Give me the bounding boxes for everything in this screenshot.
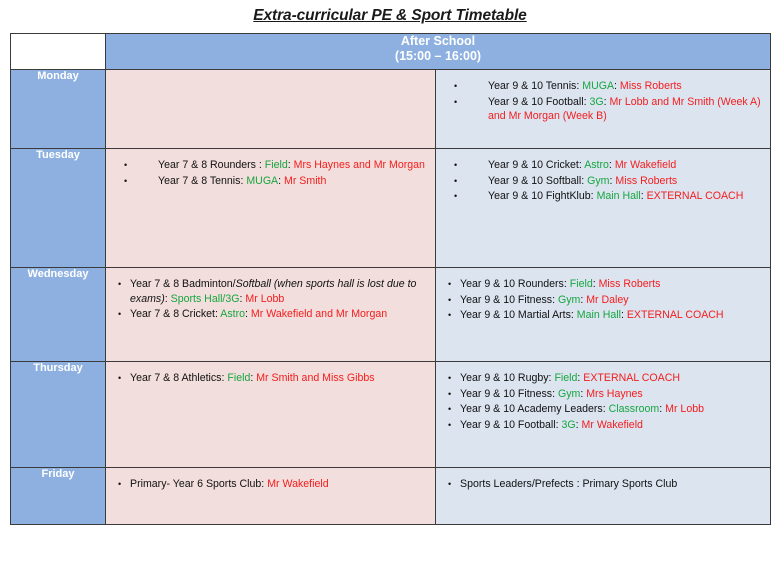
activity-text-run: Year 9 & 10 FightKlub: — [488, 190, 597, 202]
activity-text-run: Year 9 & 10 Fitness: — [460, 388, 558, 400]
activity-text-run: 3G — [562, 419, 576, 431]
cell-monday-upper-school-list: Year 9 & 10 Tennis: MUGA: Miss RobertsYe… — [436, 70, 770, 134]
cell-monday-lower-school — [106, 70, 436, 149]
cell-wednesday-lower-school: Year 7 & 8 Badminton/Softball (when spor… — [106, 268, 436, 362]
cell-tuesday-upper-school: Year 9 & 10 Cricket: Astro: Mr Wakefield… — [436, 149, 771, 268]
activity-text-run: Field — [554, 372, 577, 384]
cell-friday-lower-school-list: Primary- Year 6 Sports Club: Mr Wakefiel… — [106, 468, 435, 502]
activity-text-run: Classroom — [609, 403, 660, 415]
timetable-page: Extra-curricular PE & Sport Timetable Af… — [0, 0, 780, 585]
activity-text-run: Mr Daley — [586, 294, 628, 306]
cell-thursday-lower-school-list: Year 7 & 8 Athletics: Field: Mr Smith an… — [106, 362, 435, 396]
list-item: Sports Leaders/Prefects : Primary Sports… — [446, 477, 762, 492]
list-item: Year 7 & 8 Cricket: Astro: Mr Wakefield … — [116, 307, 427, 322]
session-header: After School (15:00 – 16:00) — [106, 34, 771, 70]
activity-text-run: Primary- Year 6 Sports Club: — [130, 478, 267, 490]
list-item: Year 9 & 10 Fitness: Gym: Mr Daley — [446, 293, 762, 308]
page-title: Extra-curricular PE & Sport Timetable — [0, 0, 780, 33]
activity-text-run: Year 7 & 8 Tennis: — [158, 175, 246, 187]
activity-text-run: Mr Lobb — [665, 403, 704, 415]
activity-text-run: Year 9 & 10 Fitness: — [460, 294, 558, 306]
cell-monday-upper-school: Year 9 & 10 Tennis: MUGA: Miss RobertsYe… — [436, 70, 771, 149]
cell-wednesday-lower-school-list: Year 7 & 8 Badminton/Softball (when spor… — [106, 268, 435, 332]
day-label-thursday: Thursday — [11, 362, 106, 468]
cell-tuesday-upper-school-list: Year 9 & 10 Cricket: Astro: Mr Wakefield… — [436, 149, 770, 214]
activity-text-run: Astro — [220, 308, 245, 320]
list-item: Year 9 & 10 FightKlub: Main Hall: EXTERN… — [450, 189, 762, 204]
activity-text-run: Sports Hall/3G — [171, 293, 240, 305]
cell-friday-upper-school: Sports Leaders/Prefects : Primary Sports… — [436, 468, 771, 525]
table-row: ThursdayYear 7 & 8 Athletics: Field: Mr … — [11, 362, 771, 468]
cell-wednesday-upper-school-list: Year 9 & 10 Rounders: Field: Miss Robert… — [436, 268, 770, 333]
activity-text-run: Year 9 & 10 Cricket: — [488, 159, 584, 171]
activity-text-run: Main Hall — [577, 309, 621, 321]
list-item: Year 7 & 8 Athletics: Field: Mr Smith an… — [116, 371, 427, 386]
list-item: Year 9 & 10 Rounders: Field: Miss Robert… — [446, 277, 762, 292]
activity-text-run: Mr Wakefield — [582, 419, 643, 431]
table-row: WednesdayYear 7 & 8 Badminton/Softball (… — [11, 268, 771, 362]
cell-thursday-upper-school-list: Year 9 & 10 Rugby: Field: EXTERNAL COACH… — [436, 362, 770, 442]
activity-text-run: Mr Wakefield — [615, 159, 676, 171]
list-item: Year 7 & 8 Tennis: MUGA: Mr Smith — [120, 174, 427, 189]
activity-text-run: Year 9 & 10 Martial Arts: — [460, 309, 577, 321]
activity-text-run: EXTERNAL COACH — [647, 190, 744, 202]
activity-text-run: Gym — [558, 294, 580, 306]
cell-tuesday-lower-school-list: Year 7 & 8 Rounders : Field: Mrs Haynes … — [106, 149, 435, 198]
activity-text-run: MUGA — [582, 80, 614, 92]
activity-text-run: Main Hall — [597, 190, 641, 202]
activity-text-run: Miss Roberts — [615, 175, 677, 187]
activity-text-run: Field — [227, 372, 250, 384]
list-item: Year 9 & 10 Tennis: MUGA: Miss Roberts — [450, 79, 762, 94]
activity-text-run: Mr Lobb — [245, 293, 284, 305]
activity-text-run: Field — [570, 278, 593, 290]
activity-text-run: Year 9 & 10 Academy Leaders: — [460, 403, 609, 415]
table-header-row: After School (15:00 – 16:00) — [11, 34, 771, 70]
activity-text-run: Gym — [587, 175, 609, 187]
activity-text-run: EXTERNAL COACH — [583, 372, 680, 384]
corner-cell — [11, 34, 106, 70]
activity-text-run: Year 9 & 10 Softball: — [488, 175, 587, 187]
list-item: Year 7 & 8 Badminton/Softball (when spor… — [116, 277, 427, 306]
day-label-friday: Friday — [11, 468, 106, 525]
activity-text-run: Year 9 & 10 Football: — [460, 419, 562, 431]
activity-text-run: 3G — [590, 96, 604, 108]
list-item: Year 9 & 10 Football: 3G: Mr Lobb and Mr… — [450, 95, 762, 124]
cell-thursday-lower-school: Year 7 & 8 Athletics: Field: Mr Smith an… — [106, 362, 436, 468]
activity-text-run: Field — [265, 159, 288, 171]
table-row: TuesdayYear 7 & 8 Rounders : Field: Mrs … — [11, 149, 771, 268]
list-item: Year 9 & 10 Football: 3G: Mr Wakefield — [446, 418, 762, 433]
cell-friday-lower-school: Primary- Year 6 Sports Club: Mr Wakefiel… — [106, 468, 436, 525]
cell-friday-upper-school-list: Sports Leaders/Prefects : Primary Sports… — [436, 468, 770, 502]
list-item: Year 7 & 8 Rounders : Field: Mrs Haynes … — [120, 158, 427, 173]
table-row: MondayYear 9 & 10 Tennis: MUGA: Miss Rob… — [11, 70, 771, 149]
cell-wednesday-upper-school: Year 9 & 10 Rounders: Field: Miss Robert… — [436, 268, 771, 362]
list-item: Primary- Year 6 Sports Club: Mr Wakefiel… — [116, 477, 427, 492]
list-item: Year 9 & 10 Softball: Gym: Miss Roberts — [450, 174, 762, 189]
activity-text-run: Mr Wakefield and Mr Morgan — [251, 308, 387, 320]
list-item: Year 9 & 10 Cricket: Astro: Mr Wakefield — [450, 158, 762, 173]
day-label-tuesday: Tuesday — [11, 149, 106, 268]
activity-text-run: Astro — [584, 159, 609, 171]
activity-text-run: Gym — [558, 388, 580, 400]
activity-text-run: Mrs Haynes and Mr Morgan — [294, 159, 425, 171]
activity-text-run: Year 9 & 10 Rounders: — [460, 278, 570, 290]
session-time: (15:00 – 16:00) — [106, 49, 770, 64]
activity-text-run: Year 9 & 10 Tennis: — [488, 80, 582, 92]
activity-text-run: Year 7 & 8 Rounders : — [158, 159, 265, 171]
day-label-wednesday: Wednesday — [11, 268, 106, 362]
activity-text-run: Sports Leaders/Prefects : Primary Sports… — [460, 478, 677, 490]
session-title: After School — [401, 34, 475, 48]
activity-text-run: Mr Wakefield — [267, 478, 328, 490]
activity-text-run: Miss Roberts — [599, 278, 661, 290]
list-item: Year 9 & 10 Martial Arts: Main Hall: EXT… — [446, 308, 762, 323]
table-row: FridayPrimary- Year 6 Sports Club: Mr Wa… — [11, 468, 771, 525]
activity-text-run: Year 9 & 10 Football: — [488, 96, 590, 108]
activity-text-run: Year 7 & 8 Athletics: — [130, 372, 227, 384]
timetable-body: MondayYear 9 & 10 Tennis: MUGA: Miss Rob… — [11, 70, 771, 525]
cell-tuesday-lower-school: Year 7 & 8 Rounders : Field: Mrs Haynes … — [106, 149, 436, 268]
activity-text-run: Miss Roberts — [620, 80, 682, 92]
cell-thursday-upper-school: Year 9 & 10 Rugby: Field: EXTERNAL COACH… — [436, 362, 771, 468]
day-label-monday: Monday — [11, 70, 106, 149]
activity-text-run: MUGA — [246, 175, 278, 187]
activity-text-run: Mr Smith and Miss Gibbs — [256, 372, 374, 384]
activity-text-run: Year 9 & 10 Rugby: — [460, 372, 554, 384]
list-item: Year 9 & 10 Fitness: Gym: Mrs Haynes — [446, 387, 762, 402]
activity-text-run: Year 7 & 8 Badminton/ — [130, 278, 236, 290]
timetable: After School (15:00 – 16:00) MondayYear … — [10, 33, 771, 525]
list-item: Year 9 & 10 Academy Leaders: Classroom: … — [446, 402, 762, 417]
list-item: Year 9 & 10 Rugby: Field: EXTERNAL COACH — [446, 371, 762, 386]
activity-text-run: Mr Smith — [284, 175, 326, 187]
activity-text-run: Year 7 & 8 Cricket: — [130, 308, 220, 320]
activity-text-run: EXTERNAL COACH — [627, 309, 724, 321]
activity-text-run: Mrs Haynes — [586, 388, 643, 400]
